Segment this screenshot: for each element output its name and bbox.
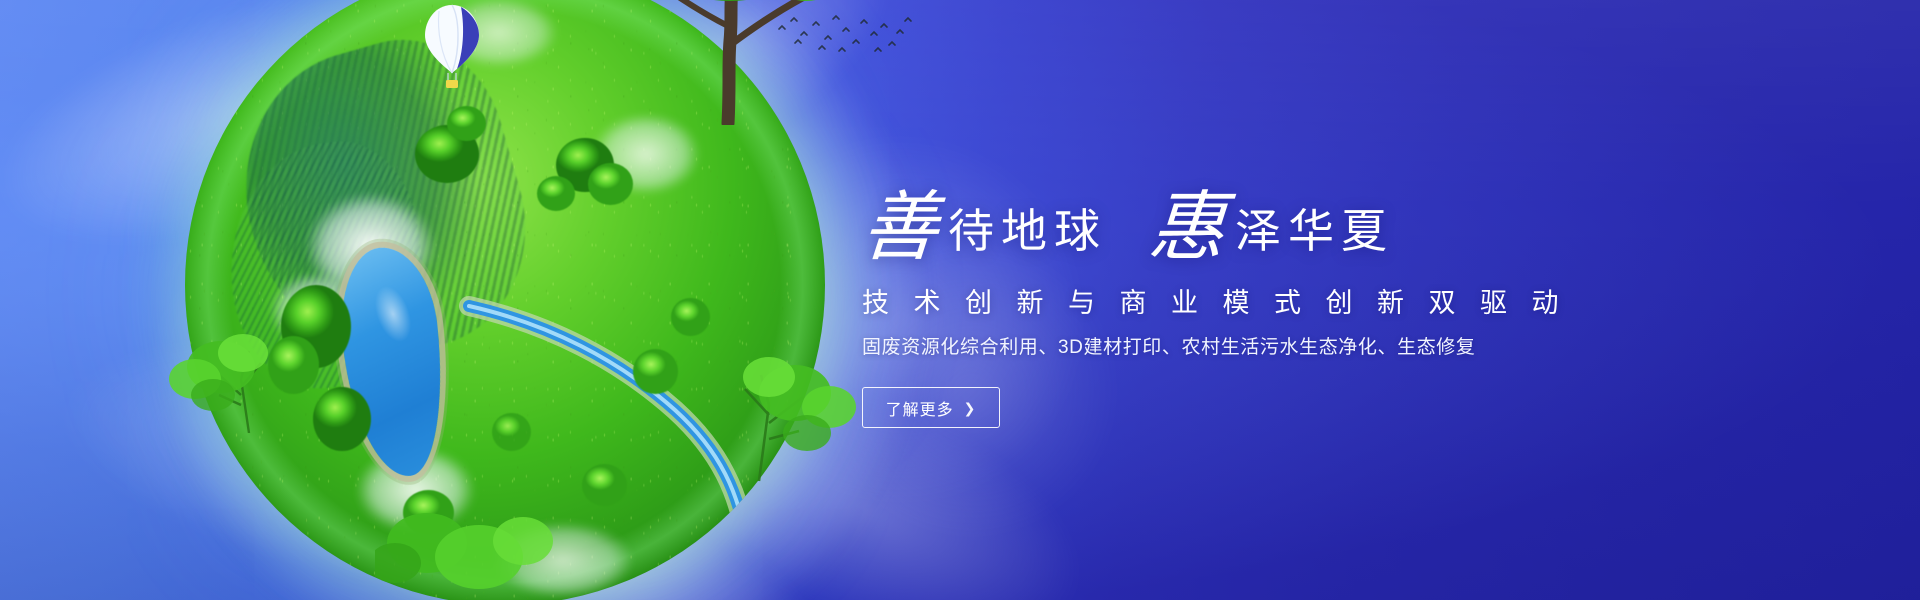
hero-subtitle: 技 术 创 新 与 商 业 模 式 创 新 双 驱 动 — [862, 286, 1682, 321]
headline-rest-2: 泽华夏 — [1235, 209, 1394, 255]
page-title: 善 待地球 惠 泽华夏 — [862, 190, 1682, 266]
headline-group-1: 善 待地球 — [862, 190, 1107, 266]
chevron-right-icon: ❯ — [964, 401, 977, 415]
hero-banner: 善 待地球 惠 泽华夏 技 术 创 新 与 商 业 模 式 创 新 双 驱 动 … — [0, 0, 1920, 600]
learn-more-label: 了解更多 — [886, 396, 954, 420]
headline-lead-1: 善 — [859, 190, 940, 266]
headline-group-2: 惠 泽华夏 — [1149, 190, 1394, 266]
headline-lead-2: 惠 — [1146, 190, 1227, 266]
learn-more-button[interactable]: 了解更多 ❯ — [862, 387, 1000, 428]
hero-copy: 善 待地球 惠 泽华夏 技 术 创 新 与 商 业 模 式 创 新 双 驱 动 … — [862, 0, 1682, 600]
headline-rest-1: 待地球 — [948, 209, 1107, 255]
hero-description: 固废资源化综合利用、3D建材打印、农村生活污水生态净化、生态修复 — [862, 335, 1682, 362]
